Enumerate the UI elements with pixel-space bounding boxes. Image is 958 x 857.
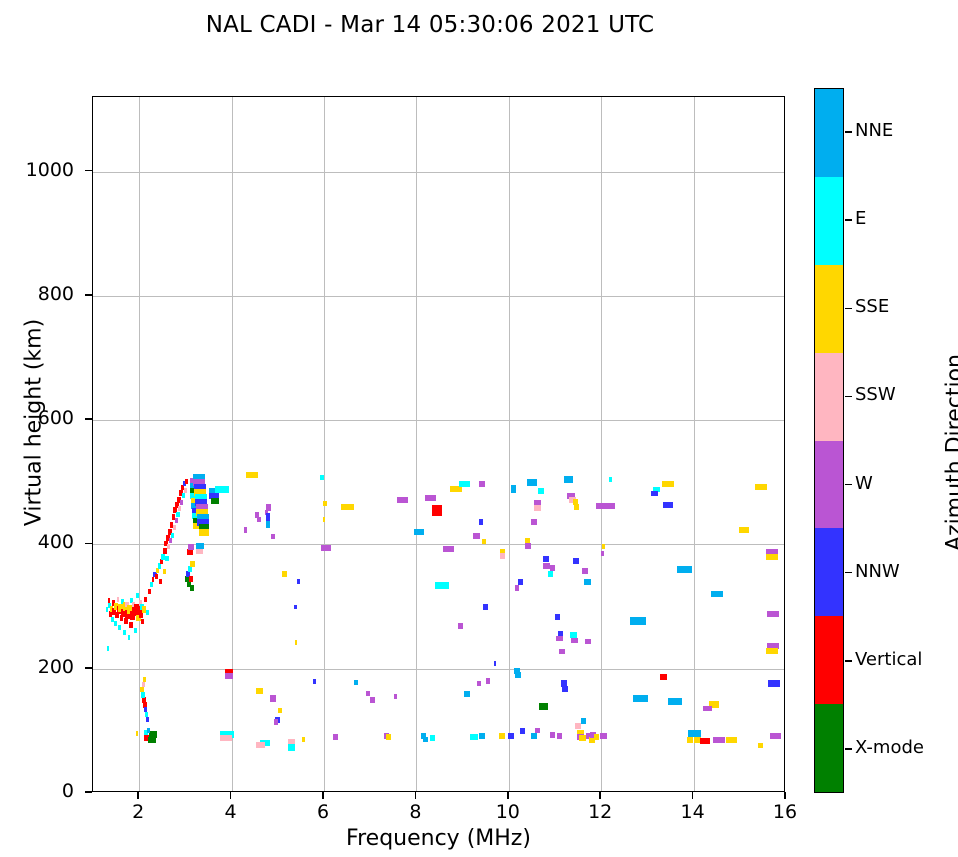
- echo-mark: [180, 500, 183, 505]
- echo-mark: [703, 706, 711, 711]
- echo-mark: [573, 558, 579, 564]
- colorbar-label: Vertical: [855, 649, 922, 670]
- x-tick-mark: [322, 792, 324, 799]
- echo-mark: [136, 593, 139, 598]
- y-tick-mark: [85, 294, 92, 296]
- colorbar-label: SSW: [855, 384, 896, 405]
- echo-mark: [531, 733, 537, 739]
- echo-mark: [425, 495, 436, 501]
- y-tick-label: 200: [0, 656, 74, 678]
- echo-mark: [531, 519, 537, 525]
- colorbar-tick-mark: [845, 219, 852, 221]
- echo-mark: [288, 744, 294, 751]
- echo-mark: [677, 566, 693, 573]
- x-tick-mark: [784, 792, 786, 799]
- echo-mark: [582, 568, 588, 574]
- colorbar-segment: [815, 441, 843, 529]
- echo-mark: [414, 529, 424, 535]
- colorbar-tick-mark: [845, 308, 852, 310]
- gridline-horizontal: [93, 172, 784, 173]
- echo-mark: [370, 697, 375, 703]
- echo-mark: [558, 631, 563, 636]
- gridline-horizontal: [93, 296, 784, 297]
- echo-mark: [500, 553, 505, 559]
- echo-mark: [190, 585, 195, 591]
- y-tick-mark: [85, 418, 92, 420]
- colorbar-tick-mark: [845, 396, 852, 398]
- x-tick-label: 16: [755, 801, 815, 823]
- echo-mark: [511, 485, 517, 493]
- echo-mark: [609, 477, 612, 482]
- echo-mark: [430, 735, 436, 741]
- echo-mark: [755, 484, 767, 490]
- echo-mark: [323, 517, 326, 522]
- echo-mark: [473, 533, 480, 539]
- colorbar-segment: [815, 353, 843, 441]
- gridline-vertical: [416, 97, 417, 791]
- echo-mark: [556, 636, 562, 641]
- colorbar-tick-mark: [845, 572, 852, 574]
- x-tick-label: 14: [663, 801, 723, 823]
- echo-mark: [711, 591, 723, 597]
- echo-mark: [266, 521, 270, 528]
- echo-mark: [176, 512, 179, 517]
- echo-mark: [494, 661, 497, 666]
- echo-mark: [271, 534, 275, 539]
- echo-mark: [534, 505, 541, 511]
- gridline-horizontal: [93, 669, 784, 670]
- colorbar-segment: [815, 265, 843, 353]
- echo-mark: [295, 640, 297, 645]
- echo-mark: [171, 533, 174, 538]
- echo-mark: [579, 735, 586, 741]
- gridline-vertical: [694, 97, 695, 791]
- echo-mark: [515, 585, 520, 591]
- x-tick-label: 12: [570, 801, 630, 823]
- echo-mark: [313, 679, 316, 684]
- echo-mark: [527, 479, 536, 486]
- echo-mark: [651, 491, 658, 496]
- colorbar-segment: [815, 89, 843, 177]
- echo-mark: [190, 561, 195, 567]
- echo-mark: [148, 589, 151, 594]
- echo-mark: [114, 621, 117, 626]
- echo-mark: [726, 737, 737, 743]
- ionogram-figure: NAL CADI - Mar 14 05:30:06 2021 UTC 0200…: [0, 0, 958, 857]
- echo-mark: [294, 605, 297, 609]
- echo-mark: [543, 556, 549, 562]
- echo-mark: [479, 519, 484, 525]
- echo-mark: [118, 625, 121, 630]
- echo-mark: [550, 565, 556, 571]
- echo-mark: [333, 734, 339, 740]
- echo-mark: [700, 738, 710, 744]
- echo-mark: [185, 479, 188, 484]
- echo-mark: [148, 737, 156, 743]
- echo-mark: [366, 691, 370, 696]
- echo-mark: [169, 538, 172, 543]
- echo-mark: [555, 614, 561, 620]
- echo-mark: [323, 501, 326, 506]
- echo-mark: [141, 692, 145, 698]
- y-tick-label: 1000: [0, 159, 74, 181]
- x-tick-mark: [599, 792, 601, 799]
- colorbar-label: SSE: [855, 296, 889, 317]
- echo-mark: [144, 597, 147, 602]
- echo-mark: [341, 504, 354, 510]
- y-tick-mark: [85, 170, 92, 172]
- echo-mark: [550, 732, 555, 738]
- echo-mark: [525, 543, 531, 549]
- x-tick-label: 6: [293, 801, 353, 823]
- echo-mark: [302, 737, 305, 742]
- echo-mark: [397, 497, 407, 503]
- echo-mark: [134, 628, 137, 633]
- echo-mark: [768, 680, 780, 687]
- echo-mark: [167, 544, 170, 549]
- echo-mark: [188, 544, 194, 550]
- gridline-vertical: [601, 97, 602, 791]
- colorbar-label: E: [855, 208, 866, 229]
- echo-mark: [564, 476, 573, 483]
- echo-mark: [518, 579, 524, 585]
- echo-mark: [663, 502, 673, 508]
- y-tick-label: 0: [0, 780, 74, 802]
- echo-mark: [770, 733, 781, 739]
- x-tick-label: 2: [108, 801, 168, 823]
- echo-mark: [211, 498, 219, 504]
- gridline-vertical: [324, 97, 325, 791]
- y-tick-mark: [85, 791, 92, 793]
- echo-mark: [562, 686, 568, 692]
- echo-mark: [143, 677, 146, 682]
- echo-mark: [633, 695, 648, 702]
- echo-mark: [163, 569, 166, 574]
- colorbar-tick-mark: [845, 131, 852, 133]
- echo-mark: [386, 734, 391, 740]
- echo-mark: [601, 503, 615, 509]
- echo-mark: [574, 504, 579, 510]
- echo-mark: [581, 718, 587, 724]
- echo-mark: [155, 574, 158, 579]
- echo-mark: [128, 635, 131, 640]
- echo-mark: [140, 687, 143, 692]
- echo-mark: [196, 543, 203, 549]
- echo-mark: [244, 527, 246, 533]
- x-tick-label: 10: [478, 801, 538, 823]
- echo-mark: [215, 486, 229, 493]
- echo-mark: [594, 734, 600, 740]
- echo-mark: [117, 597, 120, 602]
- echo-mark: [225, 673, 233, 679]
- echo-mark: [107, 646, 109, 651]
- colorbar-label: X-mode: [855, 737, 924, 758]
- echo-mark: [256, 742, 265, 748]
- echo-mark: [146, 717, 149, 722]
- y-axis-label: Virtual height (km): [22, 263, 47, 583]
- echo-mark: [479, 733, 485, 739]
- echo-mark: [160, 559, 163, 564]
- echo-mark: [458, 623, 464, 629]
- echo-mark: [602, 544, 605, 549]
- echo-mark: [150, 582, 153, 587]
- echo-mark: [282, 571, 288, 577]
- gridline-vertical: [509, 97, 510, 791]
- echo-mark: [394, 694, 398, 699]
- colorbar-segment: [815, 528, 843, 616]
- echo-mark: [668, 698, 682, 705]
- x-tick-mark: [415, 792, 417, 799]
- echo-mark: [739, 527, 749, 533]
- colorbar-title: Azimuth Direction: [943, 288, 958, 618]
- echo-mark: [713, 737, 725, 743]
- echo-mark: [175, 518, 178, 523]
- colorbar-tick-mark: [845, 660, 852, 662]
- echo-mark: [124, 618, 128, 624]
- plot-area: [92, 96, 785, 792]
- echo-mark: [459, 481, 470, 487]
- y-tick-mark: [85, 667, 92, 669]
- echo-mark: [106, 607, 108, 612]
- echo-mark: [482, 539, 486, 544]
- echo-mark: [584, 579, 590, 585]
- echo-mark: [141, 619, 144, 624]
- echo-mark: [257, 517, 261, 522]
- colorbar-label: NNW: [855, 561, 900, 582]
- echo-mark: [320, 475, 324, 480]
- x-tick-mark: [230, 792, 232, 799]
- echo-mark: [184, 488, 187, 493]
- colorbar-segment: [815, 616, 843, 704]
- colorbar-label: NNE: [855, 120, 893, 141]
- echo-mark: [123, 630, 126, 635]
- echo-mark: [538, 488, 544, 494]
- echo-mark: [182, 493, 185, 498]
- echo-mark: [278, 708, 281, 713]
- echo-mark: [479, 481, 485, 487]
- echo-mark: [758, 743, 763, 748]
- echo-mark: [321, 545, 331, 551]
- echo-mark: [354, 680, 358, 685]
- echo-mark: [274, 719, 278, 725]
- echo-mark: [767, 611, 779, 617]
- echo-mark: [535, 728, 540, 733]
- echo-mark: [539, 703, 548, 710]
- echo-mark: [548, 571, 554, 577]
- echo-mark: [256, 688, 263, 694]
- x-tick-mark: [692, 792, 694, 799]
- x-tick-mark: [507, 792, 509, 799]
- echo-mark: [559, 649, 565, 654]
- echo-mark: [660, 674, 667, 680]
- colorbar-tick-mark: [845, 484, 852, 486]
- echo-mark: [766, 554, 778, 560]
- echo-mark: [129, 622, 133, 628]
- colorbar: [814, 88, 844, 793]
- echo-mark: [147, 728, 150, 733]
- echo-mark: [159, 579, 162, 584]
- echo-mark: [136, 731, 139, 736]
- x-axis-label: Frequency (MHz): [92, 826, 785, 851]
- echo-mark: [557, 733, 563, 739]
- echo-mark: [178, 506, 181, 511]
- echo-mark: [601, 551, 604, 556]
- echo-mark: [470, 734, 477, 740]
- x-tick-label: 4: [201, 801, 261, 823]
- colorbar-tick-mark: [845, 748, 852, 750]
- echo-mark: [687, 737, 693, 743]
- echo-mark: [270, 695, 276, 702]
- echo-mark: [173, 525, 176, 530]
- echo-mark: [146, 610, 149, 615]
- gridline-vertical: [232, 97, 233, 791]
- x-tick-label: 8: [385, 801, 445, 823]
- echo-mark: [246, 472, 258, 478]
- page-title: NAL CADI - Mar 14 05:30:06 2021 UTC: [0, 12, 860, 38]
- echo-mark: [630, 617, 647, 625]
- echo-mark: [297, 579, 300, 584]
- echo-mark: [600, 733, 606, 739]
- echo-mark: [152, 577, 155, 582]
- echo-mark: [486, 678, 491, 684]
- echo-mark: [477, 681, 481, 686]
- echo-mark: [508, 733, 514, 739]
- echo-mark: [423, 737, 429, 742]
- colorbar-segment: [815, 177, 843, 265]
- echo-mark: [443, 546, 454, 552]
- echo-mark: [435, 582, 449, 589]
- echo-mark: [571, 638, 577, 643]
- y-tick-mark: [85, 543, 92, 545]
- colorbar-label: W: [855, 473, 873, 494]
- echo-mark: [165, 556, 168, 561]
- echo-mark: [432, 510, 442, 516]
- echo-mark: [189, 576, 194, 582]
- echo-mark: [142, 682, 145, 687]
- echo-mark: [662, 481, 674, 487]
- echo-mark: [199, 529, 209, 536]
- echo-mark: [515, 672, 521, 678]
- echo-mark: [220, 735, 232, 741]
- colorbar-segment: [815, 704, 843, 792]
- gridline-horizontal: [93, 420, 784, 421]
- echo-mark: [499, 733, 505, 739]
- x-tick-mark: [137, 792, 139, 799]
- echo-mark: [585, 639, 591, 644]
- echo-mark: [766, 648, 778, 654]
- echo-mark: [464, 691, 470, 697]
- echo-mark: [483, 604, 488, 610]
- echo-mark: [520, 728, 525, 734]
- echo-mark: [156, 568, 159, 573]
